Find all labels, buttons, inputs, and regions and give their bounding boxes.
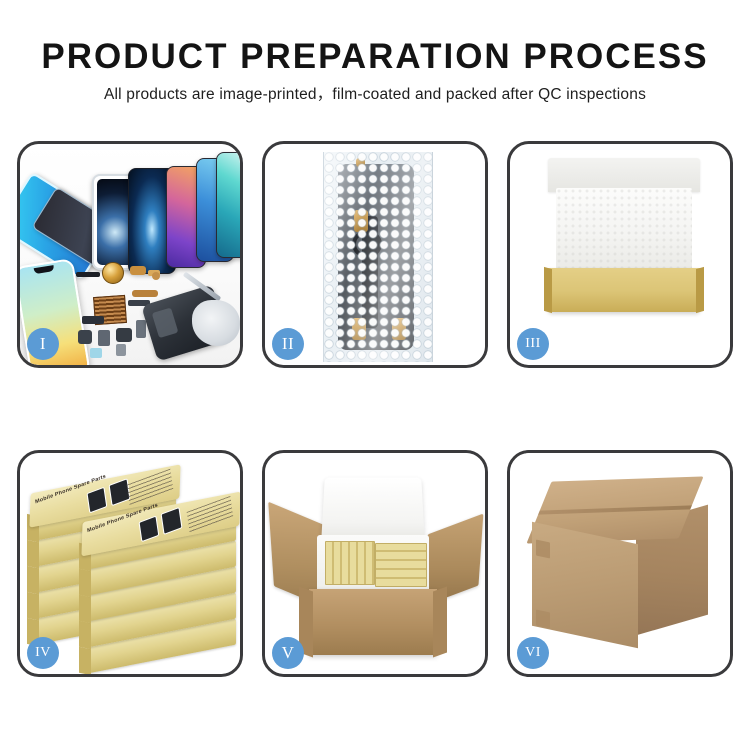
page-title: PRODUCT PREPARATION PROCESS (0, 36, 750, 78)
process-step-4[interactable]: Mobile Phone Spare Parts Mobile Phone Sp… (17, 450, 243, 677)
spare-part (90, 348, 102, 358)
step-badge-2: II (272, 328, 304, 360)
step-badge-4: IV (27, 637, 59, 669)
plastic-sheen (324, 152, 432, 362)
spare-part (152, 272, 160, 280)
spare-part (136, 320, 146, 338)
process-step-grid: I II (17, 141, 733, 677)
carton-front (532, 522, 638, 649)
step-badge-6: VI (517, 637, 549, 669)
process-step-2[interactable]: II (262, 141, 488, 368)
step-badge-5: V (272, 637, 304, 669)
process-step-1[interactable]: I (17, 141, 243, 368)
carton-tape (536, 610, 550, 629)
spare-part (116, 344, 126, 356)
spare-part (76, 272, 100, 277)
process-step-3[interactable]: III (507, 141, 733, 368)
process-step-5[interactable]: V (262, 450, 488, 677)
vibration-motor-part (102, 262, 124, 284)
foam-liner (556, 188, 692, 272)
step-badge-1: I (27, 328, 59, 360)
carton-front (309, 589, 437, 655)
spare-part (82, 316, 104, 324)
spare-part (132, 290, 158, 297)
step-badge-3: III (517, 328, 549, 360)
kraft-box-front (548, 268, 700, 312)
process-step-6[interactable]: VI (507, 450, 733, 677)
carton-tape (536, 540, 550, 559)
bubble-wrap-bag (323, 152, 433, 362)
box-lid (548, 158, 700, 192)
foam-lid (321, 477, 425, 542)
tweezers-and-hand (176, 284, 236, 344)
retail-boxes-row (325, 541, 375, 585)
header: PRODUCT PREPARATION PROCESS All products… (0, 0, 750, 106)
spare-part (98, 330, 110, 346)
product-preparation-infographic: PRODUCT PREPARATION PROCESS All products… (0, 0, 750, 750)
spare-part (116, 328, 132, 342)
spare-part (78, 330, 92, 344)
retail-boxes-row (375, 543, 427, 587)
spare-part (130, 266, 146, 275)
box-stack: Mobile Phone Spare Parts Mobile Phone Sp… (22, 477, 240, 659)
page-subtitle: All products are image-printed，film-coat… (0, 84, 750, 106)
phone-screen-teal (216, 152, 240, 258)
